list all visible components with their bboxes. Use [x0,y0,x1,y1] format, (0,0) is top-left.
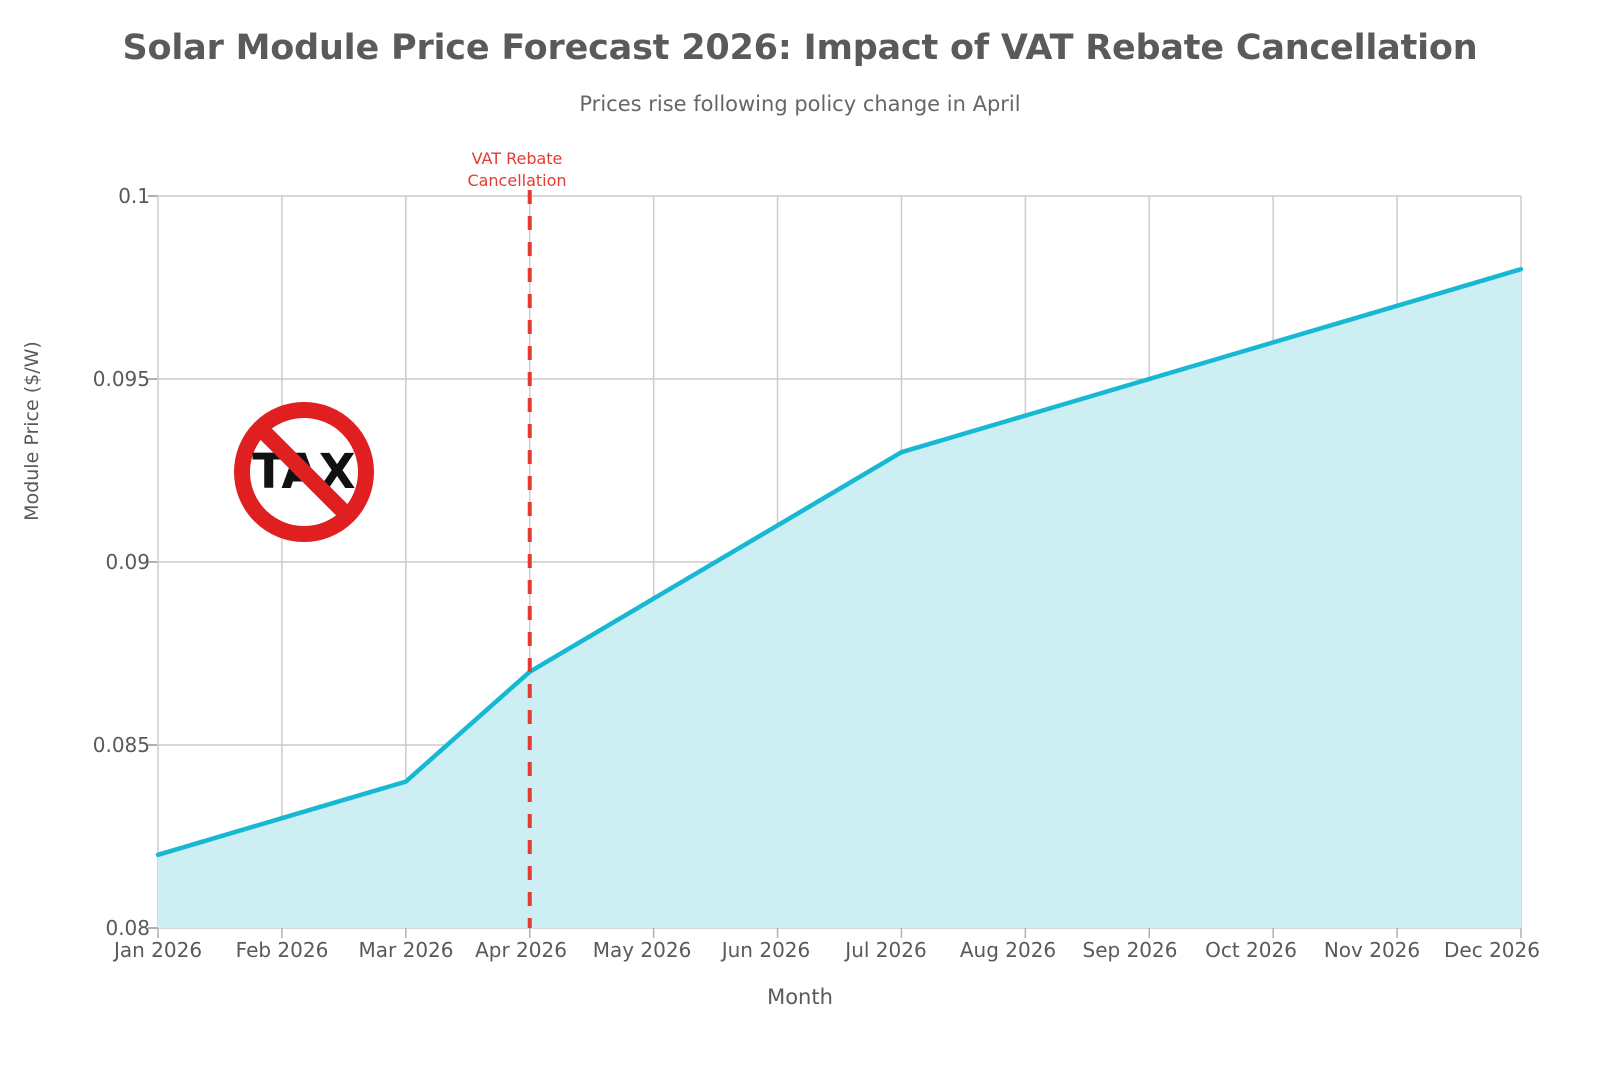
annotation-line-1: VAT Rebate [427,148,607,170]
annotation-line-2: Cancellation [427,170,607,192]
x-tick-marks [158,928,1521,938]
area-fill [158,269,1521,928]
chart-container: Solar Module Price Forecast 2026: Impact… [0,0,1600,1067]
no-tax-icon: TAX [228,396,380,548]
annotation-vat-rebate-cancellation: VAT Rebate Cancellation [427,148,607,191]
